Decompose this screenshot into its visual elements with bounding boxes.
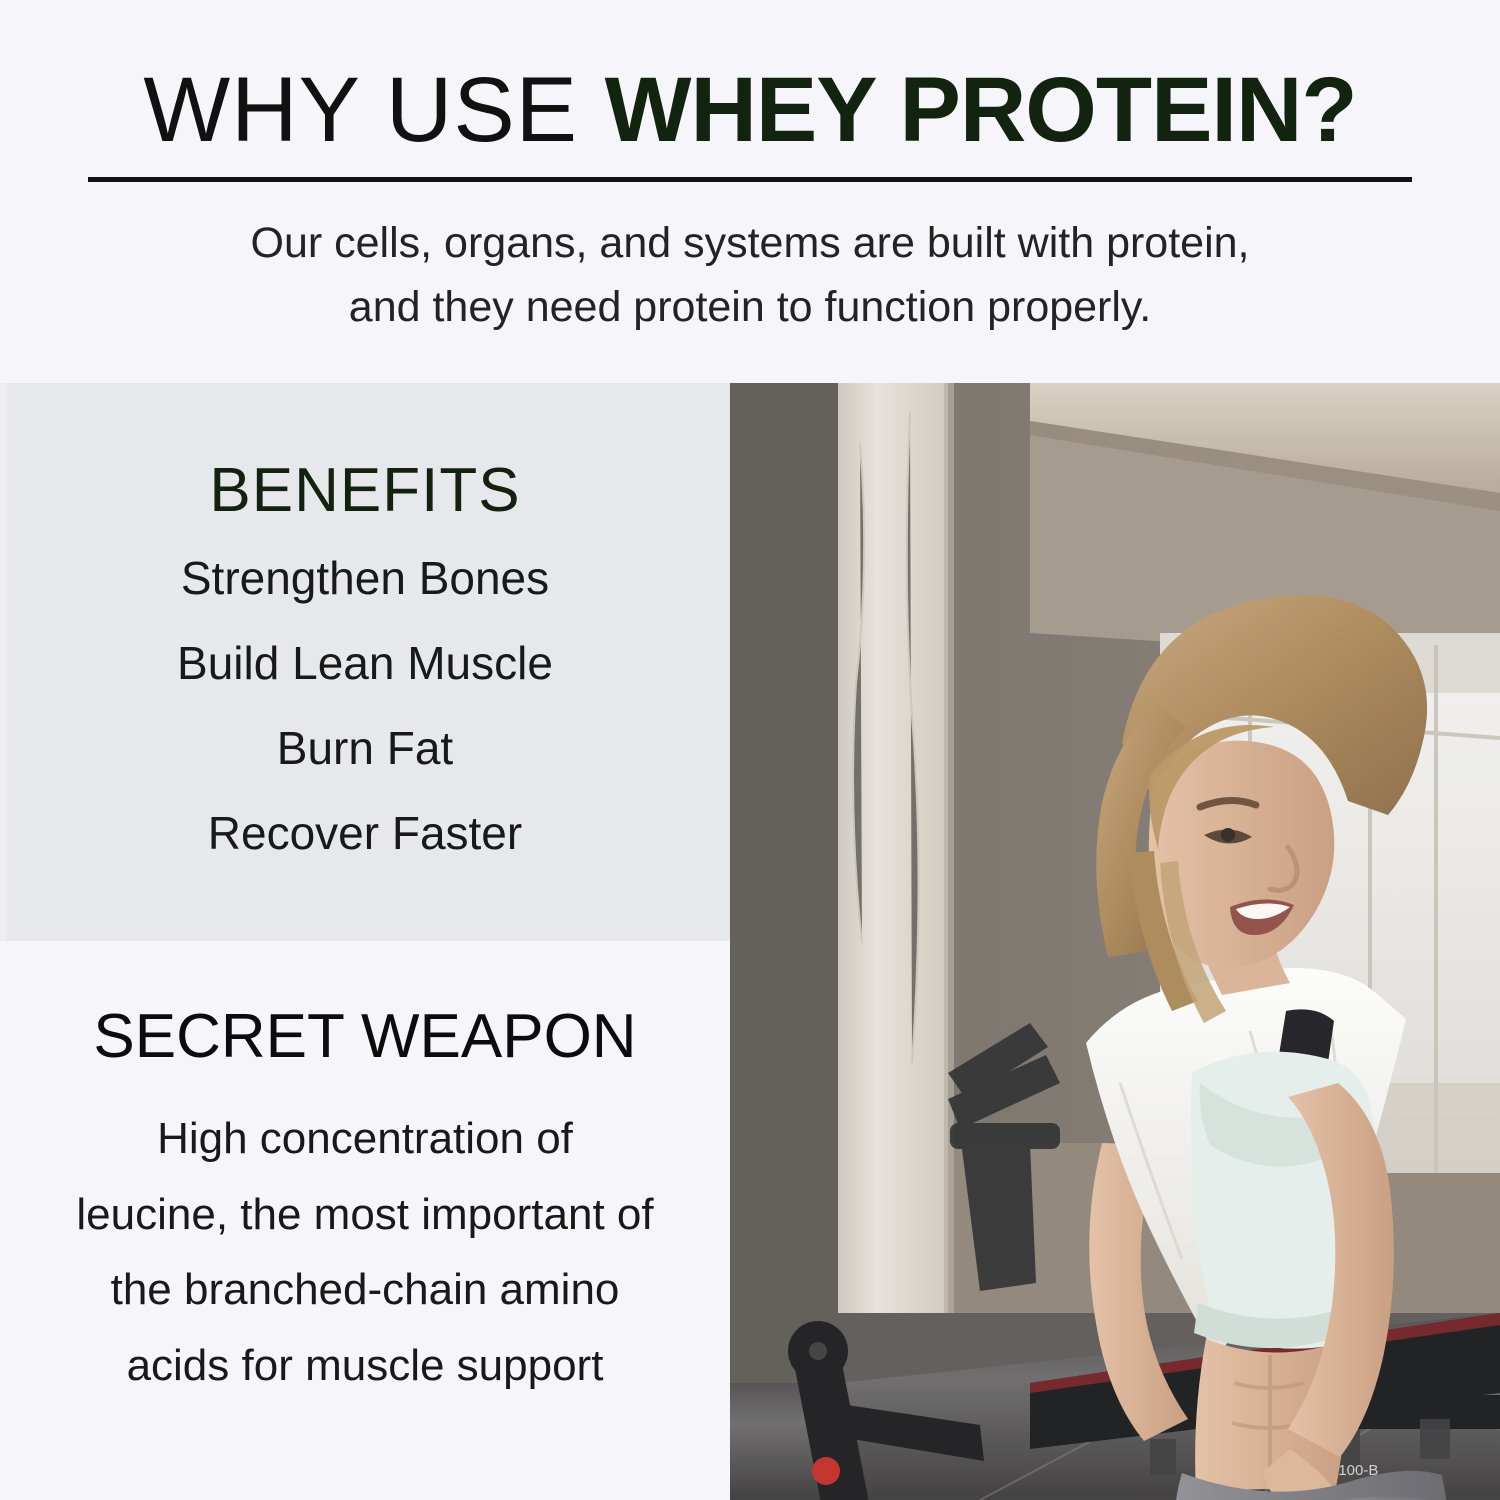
gym-photo: 6100-B xyxy=(730,383,1500,1500)
benefits-panel: BENEFITS Strengthen Bones Build Lean Mus… xyxy=(0,383,730,941)
list-item: Recover Faster xyxy=(0,810,730,856)
secret-weapon-heading: SECRET WEAPON xyxy=(0,1001,730,1072)
secret-body-line-4: acids for muscle support xyxy=(30,1328,700,1404)
list-item: Build Lean Muscle xyxy=(0,640,730,686)
page-title-bold: WHEY PROTEIN? xyxy=(605,59,1357,161)
whey-protein-infographic: WHY USE WHEY PROTEIN? Our cells, organs,… xyxy=(0,0,1500,1500)
secret-weapon-body: High concentration of leucine, the most … xyxy=(30,1101,700,1404)
list-item: Strengthen Bones xyxy=(0,555,730,601)
secret-weapon-panel: SECRET WEAPON High concentration of leuc… xyxy=(0,941,730,1500)
page-title-light: WHY USE xyxy=(143,59,604,161)
title-divider xyxy=(88,177,1412,182)
subtitle-line-1: Our cells, organs, and systems are built… xyxy=(180,212,1320,276)
gym-photo-illustration: 6100-B xyxy=(730,383,1500,1500)
page-subtitle: Our cells, organs, and systems are built… xyxy=(180,212,1320,339)
secret-body-line-2: leucine, the most important of xyxy=(30,1177,700,1253)
benefits-heading: BENEFITS xyxy=(0,455,730,526)
benefits-list: Strengthen Bones Build Lean Muscle Burn … xyxy=(0,555,730,895)
header-section: WHY USE WHEY PROTEIN? Our cells, organs,… xyxy=(0,0,1500,383)
list-item: Burn Fat xyxy=(0,725,730,771)
subtitle-line-2: and they need protein to function proper… xyxy=(180,276,1320,340)
page-title: WHY USE WHEY PROTEIN? xyxy=(0,62,1500,159)
secret-body-line-3: the branched-chain amino xyxy=(30,1252,700,1328)
secret-body-line-1: High concentration of xyxy=(30,1101,700,1177)
